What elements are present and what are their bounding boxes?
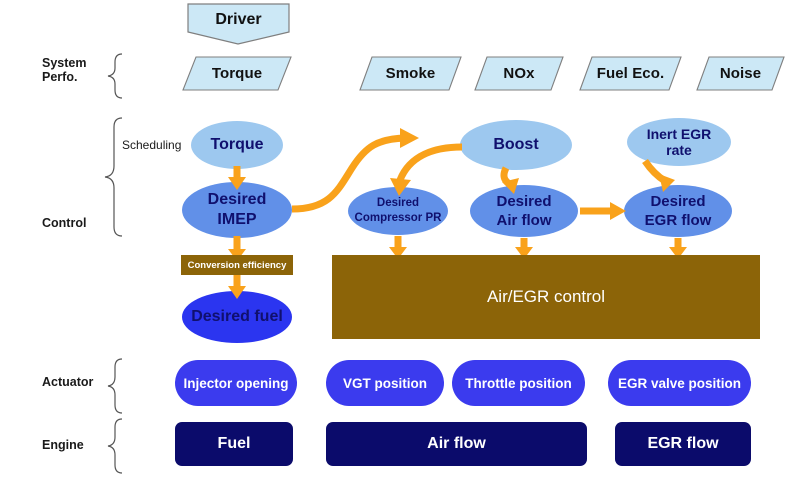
perf-item-fuel-eco-label: Fuel Eco.	[597, 65, 665, 82]
arrowhead-imep-to-boost	[400, 128, 419, 148]
perf-item-noise-label: Noise	[720, 65, 761, 82]
node-torque-label: Torque	[210, 137, 263, 153]
actuator-throttle-position-label: Throttle position	[465, 376, 571, 391]
arrow-boost-to-compressor	[400, 147, 462, 180]
node-desired-egr-flow-label: Desired EGR flow	[645, 192, 712, 230]
actuator-egr-valve-position[interactable]: EGR valve position	[608, 360, 751, 406]
actuator-injector-opening-label: Injector opening	[183, 376, 288, 391]
engine-fuel[interactable]: Fuel	[175, 422, 293, 466]
air-egr-control-box[interactable]: Air/EGR control	[332, 255, 760, 339]
conversion-efficiency-label: Conversion efficiency	[188, 260, 287, 271]
node-desired-imep-label: Desired IMEP	[208, 190, 267, 230]
driver-label: Driver	[188, 8, 289, 32]
engine-fuel-label: Fuel	[218, 435, 251, 453]
actuator-throttle-position[interactable]: Throttle position	[452, 360, 585, 406]
perf-item-torque-label: Torque	[212, 65, 262, 82]
node-desired-egr-flow[interactable]: Desired EGR flow	[624, 185, 732, 237]
actuator-egr-valve-position-label: EGR valve position	[618, 376, 741, 391]
node-desired-air-flow[interactable]: Desired Air flow	[470, 185, 578, 237]
perf-item-torque[interactable]: Torque	[183, 57, 291, 89]
engine-air-flow[interactable]: Air flow	[326, 422, 587, 466]
row-sublabel-scheduling: Scheduling	[122, 138, 192, 152]
perf-item-fuel-eco[interactable]: Fuel Eco.	[580, 57, 681, 89]
row-label-system-perfo: System Perfo.	[42, 56, 122, 84]
row-label-engine: Engine	[42, 438, 122, 452]
actuator-injector-opening[interactable]: Injector opening	[175, 360, 297, 406]
row-label-control: Control	[42, 216, 122, 230]
arrow-boost-to-airflow	[504, 168, 511, 185]
actuator-vgt-position[interactable]: VGT position	[326, 360, 444, 406]
perf-item-noise[interactable]: Noise	[697, 57, 784, 89]
engine-air-flow-label: Air flow	[427, 435, 486, 453]
engine-egr-flow[interactable]: EGR flow	[615, 422, 751, 466]
node-boost[interactable]: Boost	[460, 120, 572, 170]
node-desired-compressor-pr[interactable]: Desired Compressor PR	[348, 187, 448, 235]
node-desired-imep[interactable]: Desired IMEP	[182, 182, 292, 238]
node-inert-egr-rate[interactable]: Inert EGR rate	[627, 118, 731, 166]
node-desired-fuel-label: Desired fuel	[191, 309, 283, 325]
node-desired-air-flow-label: Desired Air flow	[496, 192, 551, 230]
node-torque[interactable]: Torque	[191, 121, 283, 169]
perf-item-smoke-label: Smoke	[386, 65, 436, 82]
perf-item-nox-label: NOx	[503, 65, 534, 82]
air-egr-control-label: Air/EGR control	[487, 287, 605, 307]
perf-item-smoke[interactable]: Smoke	[360, 57, 461, 89]
actuator-vgt-position-label: VGT position	[343, 376, 427, 391]
perf-item-nox[interactable]: NOx	[475, 57, 563, 89]
row-label-actuator: Actuator	[42, 375, 122, 389]
node-desired-fuel[interactable]: Desired fuel	[182, 291, 292, 343]
node-inert-egr-rate-label: Inert EGR rate	[647, 126, 712, 158]
node-desired-compressor-pr-label: Desired Compressor PR	[355, 196, 442, 226]
conversion-efficiency-box[interactable]: Conversion efficiency	[181, 255, 293, 275]
engine-egr-flow-label: EGR flow	[647, 435, 718, 453]
diagram-canvas: Driver System Perfo. Control Scheduling …	[0, 0, 800, 477]
node-boost-label: Boost	[493, 137, 538, 153]
